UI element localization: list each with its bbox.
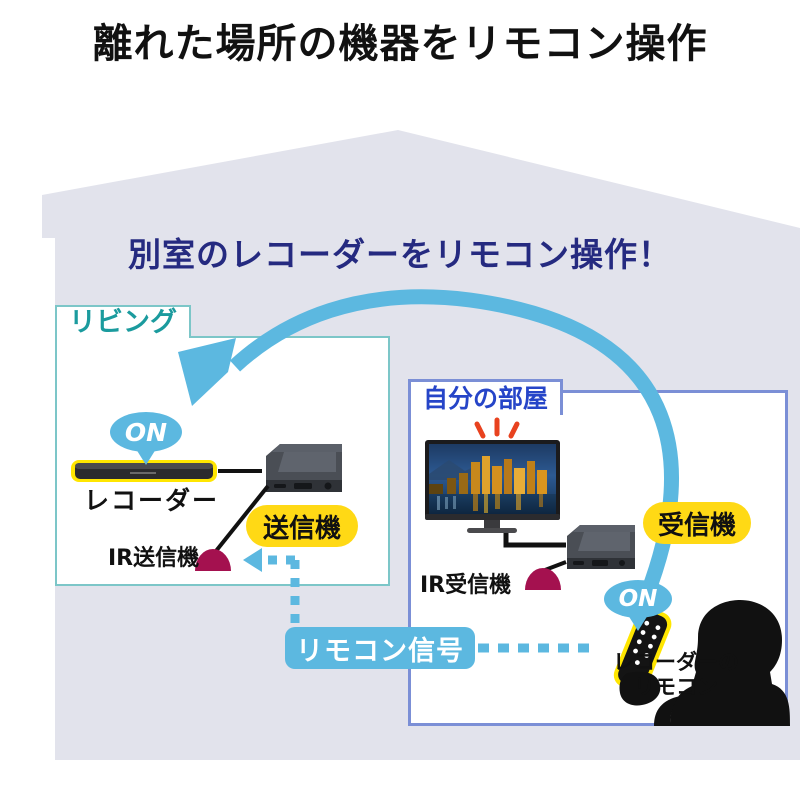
ir-receiver-dome-icon [524,565,562,591]
receiver-badge: 受信機 [643,502,751,544]
remote-control-label-line2: リモコン [613,675,739,700]
remote-control-label-line1: レコーダーの [613,650,739,675]
remote-control-label: レコーダーの リモコン [613,650,739,700]
recorder-label: レコーダー [84,487,219,516]
on-badge-living: ON [110,412,182,452]
illustration-canvas: 離れた場所の機器をリモコン操作 別室のレコーダーをリモコン操作！ リビング 自分… [0,0,800,800]
ir-transmitter-label: IR送信機 [108,546,199,571]
ir-receiver-label: IR受信機 [420,573,511,598]
on-badge-own: ON [604,580,672,618]
transmitter-badge: 送信機 [246,505,358,547]
ir-transmitter-dome-icon [194,546,232,572]
remote-signal-badge: リモコン信号 [285,627,475,669]
